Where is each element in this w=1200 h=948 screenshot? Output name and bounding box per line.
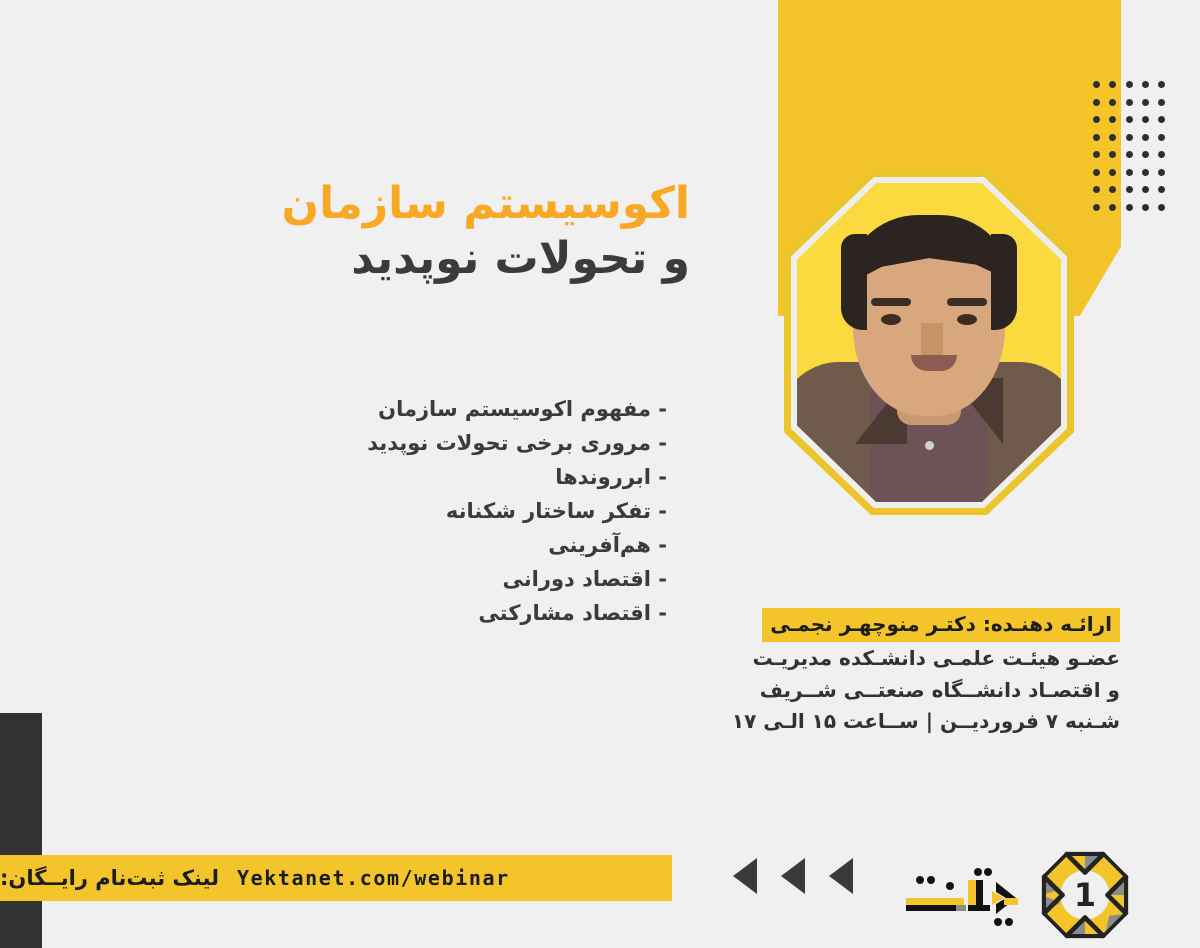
- headline-line-1: اکوسیستم سازمان: [282, 176, 690, 231]
- speaker-schedule: شـنبه ۷ فروردیــن | ســاعت ۱۵ الـی ۱۷: [730, 707, 1120, 737]
- registration-url[interactable]: Yektanet.com/webinar: [237, 866, 510, 890]
- registration-label: لینک ثبت‌نام رایــگان:: [0, 866, 219, 890]
- portrait-illustration: [797, 183, 1061, 502]
- arrow-left-icon: [733, 858, 757, 894]
- dark-accent-bar: [0, 713, 42, 948]
- speaker-name-badge: ارائـه دهنـده: دکتـر منوچهـر نجمـی: [762, 608, 1120, 642]
- list-item: - تفکر ساختار شکنانه: [367, 494, 667, 528]
- list-item: - اقتصاد مشارکتی: [367, 596, 667, 630]
- list-item: - هم‌آفرینی: [367, 528, 667, 562]
- arrow-left-icon: [781, 858, 805, 894]
- list-item: - مفهوم اکوسیستم سازمان: [367, 392, 667, 426]
- headline-line-2: و تحولات نوپدید: [282, 231, 690, 286]
- page-title: اکوسیستم سازمان و تحولات نوپدید: [282, 176, 690, 287]
- dot-grid-decoration: [1088, 76, 1170, 216]
- agenda-list: - مفهوم اکوسیستم سازمان - مروری برخی تحو…: [367, 392, 667, 630]
- yektanet-wordmark-icon: [900, 860, 1020, 930]
- speaker-photo: [784, 170, 1074, 515]
- octagon-badge-icon: 1: [1038, 848, 1132, 942]
- registration-cta-bar[interactable]: Yektanet.com/webinar لینک ثبت‌نام رایــگ…: [0, 855, 672, 901]
- arrow-group: [733, 858, 853, 894]
- webinar-poster: اکوسیستم سازمان و تحولات نوپدید - مفهوم …: [0, 0, 1200, 948]
- brand-logo: 1: [900, 845, 1140, 945]
- list-item: - ابرروندها: [367, 460, 667, 494]
- speaker-info: ارائـه دهنـده: دکتـر منوچهـر نجمـی عضـو …: [730, 608, 1120, 737]
- speaker-affiliation-line-2: و اقتصـاد دانشــگاه صنعتــی شــریف: [730, 676, 1120, 706]
- list-item: - مروری برخی تحولات نوپدید: [367, 426, 667, 460]
- list-item: - اقتصاد دورانی: [367, 562, 667, 596]
- badge-number: 1: [1074, 876, 1096, 914]
- arrow-left-icon: [829, 858, 853, 894]
- speaker-affiliation-line-1: عضـو هیئـت علمـی دانشـکده مدیریـت: [730, 644, 1120, 674]
- photo-image: [797, 183, 1061, 502]
